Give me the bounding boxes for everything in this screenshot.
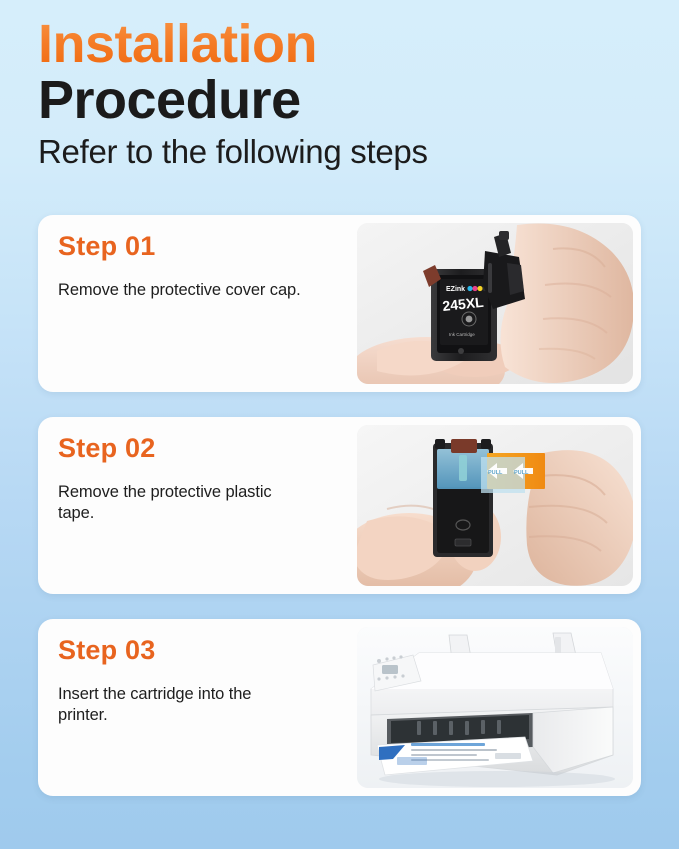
step-card-text: Step 02 Remove the protective plastic ta… bbox=[58, 434, 348, 525]
step-label: Step 02 bbox=[58, 434, 348, 464]
svg-text:Ink Cartridge: Ink Cartridge bbox=[449, 332, 475, 337]
page-header: Installation Procedure Refer to the foll… bbox=[38, 16, 638, 172]
step-label: Step 01 bbox=[58, 232, 348, 262]
step-card: Step 02 Remove the protective plastic ta… bbox=[38, 417, 641, 594]
page-subtitle: Refer to the following steps bbox=[38, 133, 638, 172]
step-description: Remove the protective cover cap. bbox=[58, 280, 303, 302]
page-title-primary: Installation bbox=[38, 16, 638, 72]
step-description: Remove the protective plastic tape. bbox=[58, 482, 303, 526]
step-photo: PULL PULL bbox=[357, 425, 633, 586]
step-label: Step 03 bbox=[58, 636, 348, 666]
step-card: Step 03 Insert the cartridge into the pr… bbox=[38, 619, 641, 796]
page-title-secondary: Procedure bbox=[38, 72, 638, 129]
step-photo: EZink 245XL Ink Cartridge bbox=[357, 223, 633, 384]
installation-procedure-page: Installation Procedure Refer to the foll… bbox=[0, 0, 679, 849]
svg-text:PULL: PULL bbox=[488, 470, 503, 476]
step-photo bbox=[357, 627, 633, 788]
step-card-text: Step 03 Insert the cartridge into the pr… bbox=[58, 636, 348, 727]
svg-text:PULL: PULL bbox=[514, 470, 529, 476]
step-card-text: Step 01 Remove the protective cover cap. bbox=[58, 232, 348, 301]
step-card: Step 01 Remove the protective cover cap. bbox=[38, 215, 641, 392]
step-description: Insert the cartridge into the printer. bbox=[58, 684, 303, 728]
svg-text:EZink: EZink bbox=[446, 286, 465, 293]
